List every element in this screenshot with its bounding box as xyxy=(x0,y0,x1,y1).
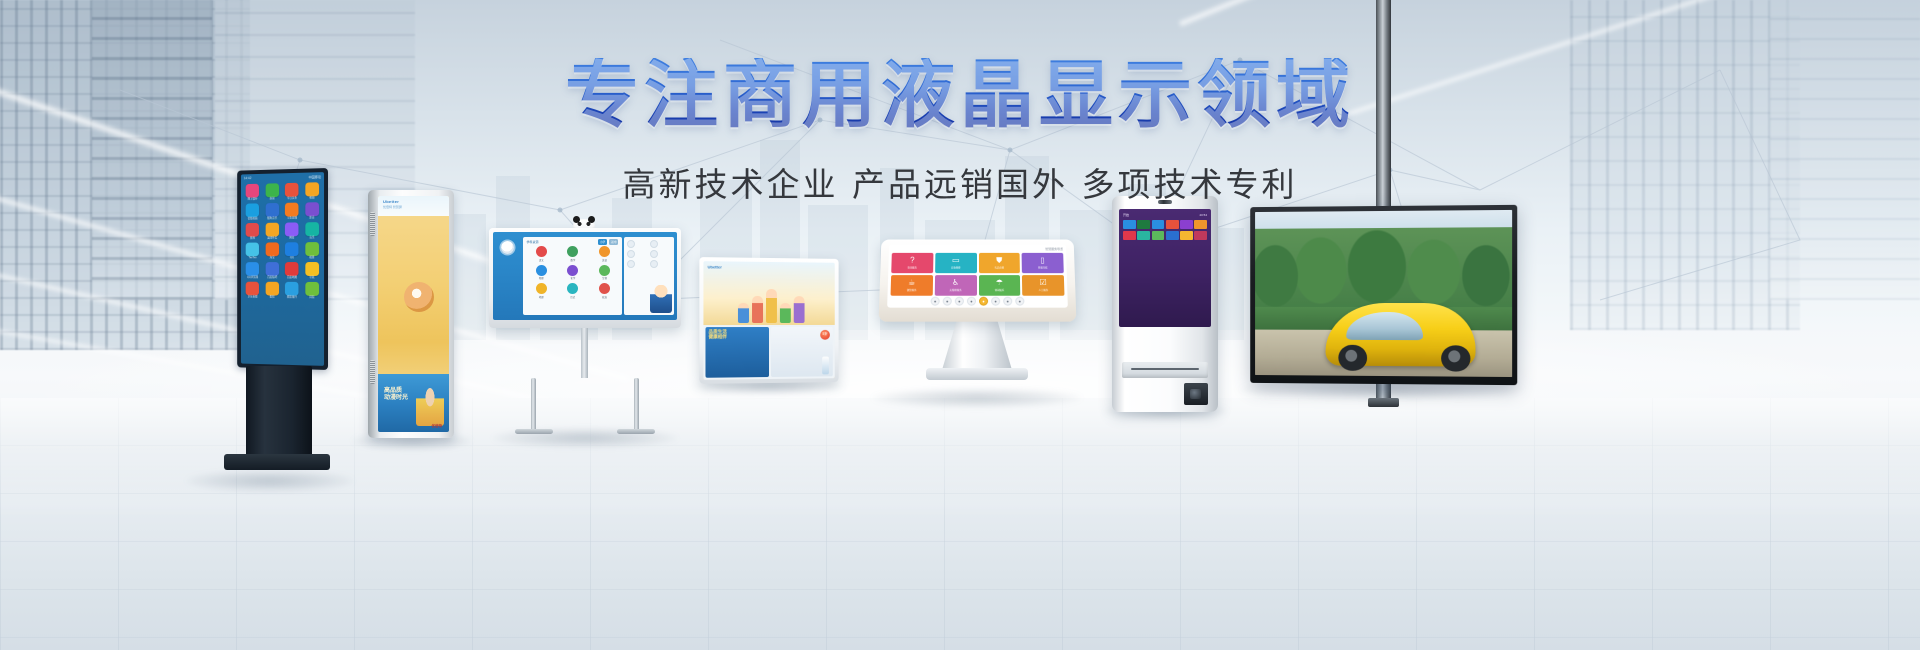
app-icon xyxy=(305,242,319,256)
whiteboard-stand-neck xyxy=(581,328,588,378)
subject-tile[interactable]: 物理 xyxy=(526,265,556,281)
service-tile-icon: ♿ xyxy=(952,279,959,287)
app-icon xyxy=(265,243,278,257)
terminal-screen: 开始 20:54 xyxy=(1119,209,1211,327)
terminal-status-bar: 开始 20:54 xyxy=(1123,213,1207,217)
kiosk-base-plate xyxy=(224,454,330,470)
service-tile-label: 礼品兑换 xyxy=(995,266,1005,270)
service-tile-icon: ▭ xyxy=(952,256,960,264)
whiteboard-frame: 学科资源 小学初中 语文数学英语物理化学生物地理历史政治 xyxy=(489,228,681,328)
app-label: QQ xyxy=(283,257,301,260)
app-tile[interactable]: 相册 xyxy=(303,242,321,260)
app-tile[interactable]: 网易 xyxy=(283,223,301,241)
terminal-status-time: 20:54 xyxy=(1199,213,1207,217)
speaker-grill-icon xyxy=(370,360,375,384)
service-tile-icon: ☂ xyxy=(996,279,1003,287)
terminal-tile[interactable] xyxy=(1166,231,1179,240)
app-icon xyxy=(265,282,278,296)
whiteboard-subject-panel: 学科资源 小学初中 语文数学英语物理化学生物地理历史政治 xyxy=(523,237,622,315)
grade-tab[interactable]: 初中 xyxy=(609,239,618,245)
app-label: 美团外卖 xyxy=(263,238,281,241)
subject-tile[interactable]: 历史 xyxy=(558,283,588,299)
app-label: TaoTao xyxy=(244,258,262,261)
promo-headline: 品质生活 健康相伴 xyxy=(709,330,727,340)
service-tile-icon: ☕ xyxy=(908,279,915,287)
stand-foot xyxy=(617,429,655,434)
service-tile[interactable]: ▯智能导航 xyxy=(1022,253,1064,273)
tool-button[interactable] xyxy=(650,260,658,268)
subject-tile[interactable]: 地理 xyxy=(526,283,556,299)
subject-icon xyxy=(536,246,547,257)
service-tile-icon: ▯ xyxy=(1040,256,1045,264)
app-tile[interactable]: 京东商城 xyxy=(244,282,262,299)
service-tile[interactable]: ☕餐饮服务 xyxy=(891,275,933,296)
dock-button[interactable]: ● xyxy=(979,297,988,306)
hero-banner: 专注商用液晶显示领域 高新技术企业 产品远销国外 多项技术专利 14:42 中国… xyxy=(0,0,1920,650)
app-label: 携程旅行 xyxy=(283,297,301,300)
app-icon xyxy=(285,243,299,257)
product-vertical-ad-display[interactable]: Ubetter 优倍特 智慧屏 高品质 动漫时光 优倍特 xyxy=(360,190,460,445)
terminal-tile[interactable] xyxy=(1152,231,1165,240)
person-figure xyxy=(779,303,790,323)
avatar[interactable] xyxy=(501,241,514,254)
subject-label: 政治 xyxy=(590,295,620,299)
product-interactive-whiteboard[interactable]: 学科资源 小学初中 语文数学英语物理化学生物地理历史政治 xyxy=(489,228,681,438)
whiteboard-sidebar[interactable] xyxy=(493,232,521,320)
app-icon xyxy=(305,282,319,296)
tablet-frame: Ubetter 品质生活 健康相伴 5折 xyxy=(699,257,838,384)
app-icon xyxy=(285,262,299,276)
subject-tile[interactable]: 政治 xyxy=(590,283,620,299)
dock-button[interactable]: ● xyxy=(943,297,952,306)
service-tile-icon: ⛊ xyxy=(996,256,1002,264)
service-tile-label: 自助缴费 xyxy=(951,266,961,270)
receipt-printer-slot xyxy=(1122,362,1208,378)
app-tile[interactable]: 百度贴吧 xyxy=(263,262,281,279)
terminal-tile[interactable] xyxy=(1180,220,1193,229)
app-tile[interactable]: 百度地图 xyxy=(283,262,301,279)
app-icon xyxy=(285,223,299,237)
app-tile[interactable]: 同程 xyxy=(303,282,321,300)
pole-base-cap xyxy=(1368,398,1399,407)
whiteboard-stand-legs xyxy=(523,378,647,434)
terminal-tile[interactable] xyxy=(1137,231,1150,240)
subject-icon xyxy=(567,246,578,257)
vertical-display-screen: Ubetter 优倍特 智慧屏 高品质 动漫时光 优倍特 xyxy=(378,196,449,432)
subject-icon xyxy=(536,265,547,276)
app-label: 优酷视频 xyxy=(244,218,262,221)
subject-label: 物理 xyxy=(526,276,556,280)
subject-tile[interactable]: 数学 xyxy=(558,246,588,262)
whiteboard-screen: 学科资源 小学初中 语文数学英语物理化学生物地理历史政治 xyxy=(493,232,677,320)
app-label: 相册 xyxy=(303,257,321,260)
whiteboard-tab-group[interactable]: 小学初中 xyxy=(598,239,618,245)
app-tile[interactable]: 音乐 xyxy=(303,222,321,240)
app-label: 网易 xyxy=(283,237,301,240)
dock-button[interactable]: ● xyxy=(1015,297,1024,306)
tv-screen xyxy=(1255,210,1512,377)
subject-icon xyxy=(599,265,610,276)
tool-button[interactable] xyxy=(627,260,635,268)
subject-label: 英语 xyxy=(590,258,620,262)
subject-label: 地理 xyxy=(526,295,556,299)
subject-label: 化学 xyxy=(558,276,588,280)
vertical-display-body: Ubetter 优倍特 智慧屏 高品质 动漫时光 优倍特 xyxy=(368,190,454,438)
terminal-tile[interactable] xyxy=(1123,220,1136,229)
tv-frame xyxy=(1250,205,1517,385)
subject-icon xyxy=(567,283,578,294)
speaker-grill-icon xyxy=(370,212,375,236)
tool-button[interactable] xyxy=(627,250,635,258)
app-label: 百度贴吧 xyxy=(263,277,281,280)
terminal-tile[interactable] xyxy=(1152,220,1165,229)
app-label: 百度地图 xyxy=(283,277,301,280)
subject-label: 语文 xyxy=(526,258,556,262)
terminal-tile[interactable] xyxy=(1166,220,1179,229)
app-tile[interactable]: 携程旅行 xyxy=(283,282,301,300)
service-tile-label: 餐饮服务 xyxy=(907,288,917,292)
app-label: 京东商城 xyxy=(244,297,262,300)
terminal-body: 开始 20:54 xyxy=(1112,196,1218,412)
service-tile[interactable]: ?咨询服务 xyxy=(891,253,933,273)
service-tile-grid[interactable]: ?咨询服务▭自助缴费⛊礼品兑换▯智能导航☕餐饮服务♿无障碍服务☂休闲娱乐☑人工服… xyxy=(891,253,1065,296)
product-wall-ad-tablet[interactable]: Ubetter 品质生活 健康相伴 5折 xyxy=(700,258,840,383)
service-tile[interactable]: ♿无障碍服务 xyxy=(935,275,977,296)
tool-button[interactable] xyxy=(650,240,658,248)
app-label: 同程 xyxy=(303,297,321,300)
service-tile-label: 无障碍服务 xyxy=(950,288,962,292)
app-tile[interactable]: 淘宝 xyxy=(263,243,281,260)
person-figure xyxy=(737,303,748,323)
subject-icon xyxy=(599,283,610,294)
hero-copy: 专注商用液晶显示领域 高新技术企业 产品远销国外 多项技术专利 xyxy=(0,58,1920,206)
touch-table-screen: 智慧服务导览 ?咨询服务▭自助缴费⛊礼品兑换▯智能导航☕餐饮服务♿无障碍服务☂休… xyxy=(887,244,1068,307)
dock-button[interactable]: ● xyxy=(955,297,964,306)
app-label: 携程 xyxy=(263,297,281,300)
touch-table-panel: 智慧服务导览 ?咨询服务▭自助缴费⛊礼品兑换▯智能导航☕餐饮服务♿无障碍服务☂休… xyxy=(879,240,1077,322)
subject-icon xyxy=(567,265,578,276)
service-tile-icon: ☑ xyxy=(1040,279,1047,287)
tablet-hero-area: Ubetter xyxy=(703,261,834,325)
app-label: 淘宝 xyxy=(263,257,281,260)
person-figure xyxy=(752,296,763,323)
terminal-tile[interactable] xyxy=(1137,220,1150,229)
terminal-status-start: 开始 xyxy=(1123,213,1129,217)
service-tile-label: 人工服务 xyxy=(1039,288,1049,292)
person-figure xyxy=(766,289,777,323)
service-tile[interactable]: ☂休闲娱乐 xyxy=(978,275,1020,296)
promo-cell-primary[interactable]: 品质生活 健康相伴 xyxy=(705,327,769,378)
terminal-tile[interactable] xyxy=(1180,231,1193,240)
app-icon xyxy=(285,282,299,296)
app-icon xyxy=(246,263,259,277)
screen-header: 智慧服务导览 xyxy=(892,247,1063,251)
tool-button[interactable] xyxy=(627,240,635,248)
app-tile[interactable]: 美团外卖 xyxy=(263,223,281,241)
app-tile[interactable]: QQ xyxy=(283,242,301,260)
service-tile-label: 休闲娱乐 xyxy=(995,288,1005,292)
service-tile[interactable]: ⛊礼品兑换 xyxy=(978,253,1020,273)
page-title: 专注商用液晶显示领域 xyxy=(0,58,1920,132)
terminal-tile-grid[interactable] xyxy=(1123,220,1207,240)
app-tile[interactable]: TaoTao xyxy=(244,243,262,260)
discount-badge: 5折 xyxy=(820,330,830,340)
product-large-lcd-tv[interactable] xyxy=(1248,206,1516,384)
app-label: QQ浏览器 xyxy=(244,277,262,280)
stand-leg xyxy=(531,378,536,432)
subject-icon xyxy=(536,283,547,294)
product-floor-standing-kiosk[interactable]: 14:42 中国移动 网上银行新闻今日头条视频优酷视频酷狗音乐斗鱼直播影音微博美… xyxy=(196,168,328,480)
tool-grid[interactable] xyxy=(627,240,671,268)
bottom-dock-bar[interactable]: ●●●●●●●● xyxy=(895,297,1059,306)
app-icon xyxy=(246,282,259,296)
terminal-tile[interactable] xyxy=(1194,231,1207,240)
app-icon xyxy=(246,223,259,237)
app-tile[interactable]: 携程 xyxy=(263,282,281,299)
subject-label: 历史 xyxy=(558,295,588,299)
app-tile[interactable]: 微博 xyxy=(244,223,262,240)
service-tile[interactable]: ☑人工服务 xyxy=(1022,275,1064,296)
terminal-tile[interactable] xyxy=(1123,231,1136,240)
subject-tile[interactable]: 英语 xyxy=(590,246,620,262)
app-icon xyxy=(265,262,278,276)
tablet-promo-row: 品质生活 健康相伴 5折 xyxy=(703,325,834,380)
terminal-tile[interactable] xyxy=(1194,220,1207,229)
app-label: 音乐 xyxy=(303,237,321,240)
app-icon xyxy=(246,243,259,257)
service-tile-label: 咨询服务 xyxy=(907,266,917,270)
app-icon xyxy=(305,262,319,276)
subject-tile[interactable]: 化学 xyxy=(558,265,588,281)
app-label: 导航 xyxy=(303,277,321,280)
family-illustration xyxy=(720,288,821,322)
child-illustration xyxy=(416,386,444,426)
dock-button[interactable]: ● xyxy=(967,297,976,306)
app-icon xyxy=(305,222,319,236)
product-bottle-icon xyxy=(822,357,829,375)
brand-logo: Ubetter xyxy=(708,264,722,269)
app-label: 微博 xyxy=(244,238,262,241)
app-label: 斗鱼直播 xyxy=(283,218,301,221)
subject-icon xyxy=(599,246,610,257)
app-tile[interactable]: 优酷视频 xyxy=(244,203,262,221)
stand-foot xyxy=(515,429,553,434)
tool-button[interactable] xyxy=(650,250,658,258)
person-figure xyxy=(793,296,804,323)
teacher-mascot-icon xyxy=(650,285,672,313)
kiosk-stand-column xyxy=(246,366,312,458)
vertical-display-footer: 高品质 动漫时光 优倍特 xyxy=(378,374,449,432)
dock-button[interactable]: ● xyxy=(931,297,940,306)
service-tile[interactable]: ▭自助缴费 xyxy=(935,253,977,273)
footer-brand-logo: 优倍特 xyxy=(432,424,443,429)
app-label: 酷狗音乐 xyxy=(263,218,281,221)
subject-label: 数学 xyxy=(558,258,588,262)
app-tile[interactable]: QQ浏览器 xyxy=(244,263,262,280)
ad-headline: 高品质 动漫时光 xyxy=(384,388,408,402)
light-streak xyxy=(1179,0,1664,28)
product-touch-table-terminal[interactable]: 智慧服务导览 ?咨询服务▭自助缴费⛊礼品兑换▯智能导航☕餐饮服务♿无障碍服务☂休… xyxy=(880,238,1075,398)
stand-leg xyxy=(634,378,639,432)
app-label: 影音 xyxy=(303,217,321,220)
subject-label: 生物 xyxy=(590,276,620,280)
product-self-service-terminal[interactable]: 开始 20:54 xyxy=(1112,196,1218,412)
tv-content-wheel xyxy=(1338,344,1366,370)
promo-cell-product[interactable]: 5折 xyxy=(771,327,833,377)
app-tile[interactable]: 导航 xyxy=(303,262,321,280)
tablet-screen: Ubetter 品质生活 健康相伴 5折 xyxy=(703,261,834,380)
subject-grid[interactable]: 语文数学英语物理化学生物地理历史政治 xyxy=(526,246,619,299)
subject-tile[interactable]: 生物 xyxy=(590,265,620,281)
dock-button[interactable]: ● xyxy=(991,297,1000,306)
touch-table-stem xyxy=(942,318,1012,370)
service-tile-icon: ? xyxy=(910,256,915,264)
whiteboard-tools-panel xyxy=(624,237,674,315)
subject-tile[interactable]: 语文 xyxy=(526,246,556,262)
app-icon xyxy=(265,223,278,237)
dock-button[interactable]: ● xyxy=(1003,297,1012,306)
touch-table-base xyxy=(926,368,1028,380)
service-tile-label: 智能导航 xyxy=(1038,266,1048,270)
barcode-scanner-icon xyxy=(1184,383,1208,405)
cartoon-bear-graphic xyxy=(404,282,434,312)
tv-content-wheel xyxy=(1441,345,1470,372)
page-subtitle: 高新技术企业 产品远销国外 多项技术专利 xyxy=(0,158,1920,206)
grade-tab[interactable]: 小学 xyxy=(598,239,607,245)
